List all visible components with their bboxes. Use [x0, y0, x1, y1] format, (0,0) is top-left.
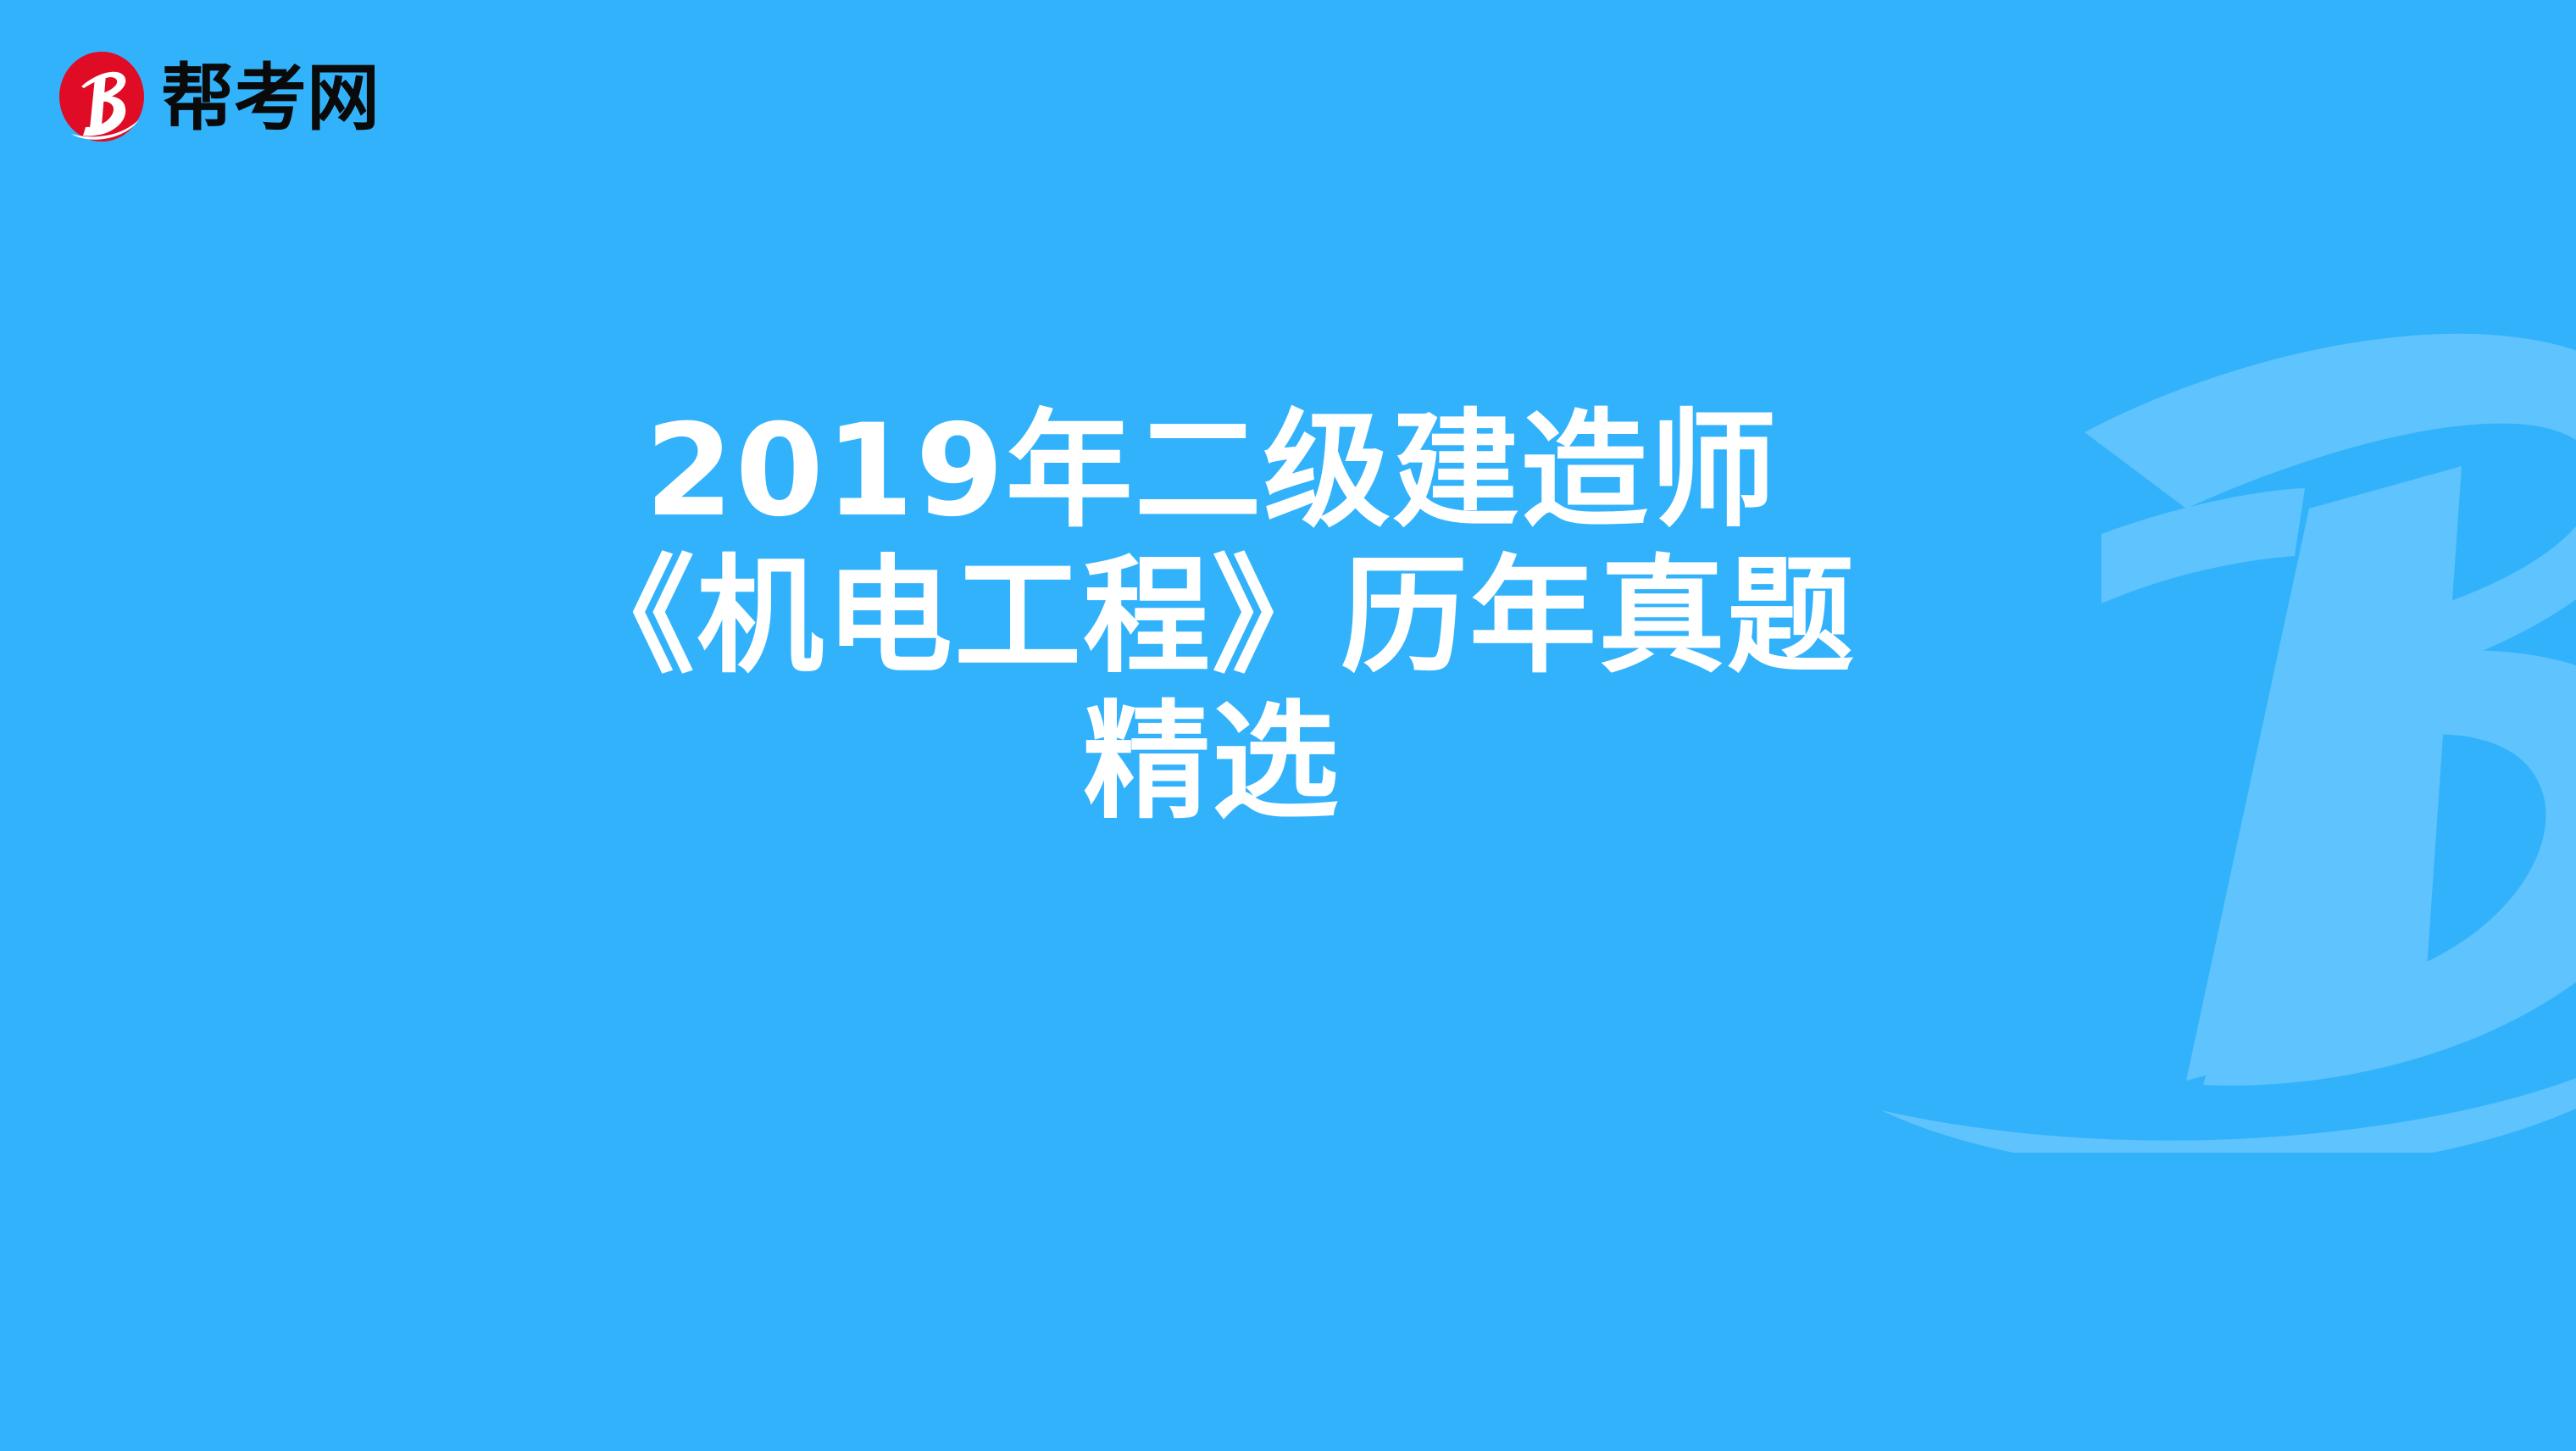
hero-title-line-1: 2019年二级建造师	[0, 398, 2423, 544]
brand-badge-b-icon	[58, 51, 146, 142]
hero-title-line-2: 《机电工程》历年真题	[0, 544, 2423, 690]
hero-title-line-3: 精选	[0, 690, 2423, 836]
brand-name: 帮考网	[161, 62, 380, 135]
hero-title: 2019年二级建造师 《机电工程》历年真题 精选	[0, 398, 2423, 836]
brand-logo[interactable]: 帮考网	[58, 49, 380, 144]
slide-canvas: 帮考网 2019年二级建造师 《机电工程》历年真题 精选	[0, 0, 2576, 1451]
